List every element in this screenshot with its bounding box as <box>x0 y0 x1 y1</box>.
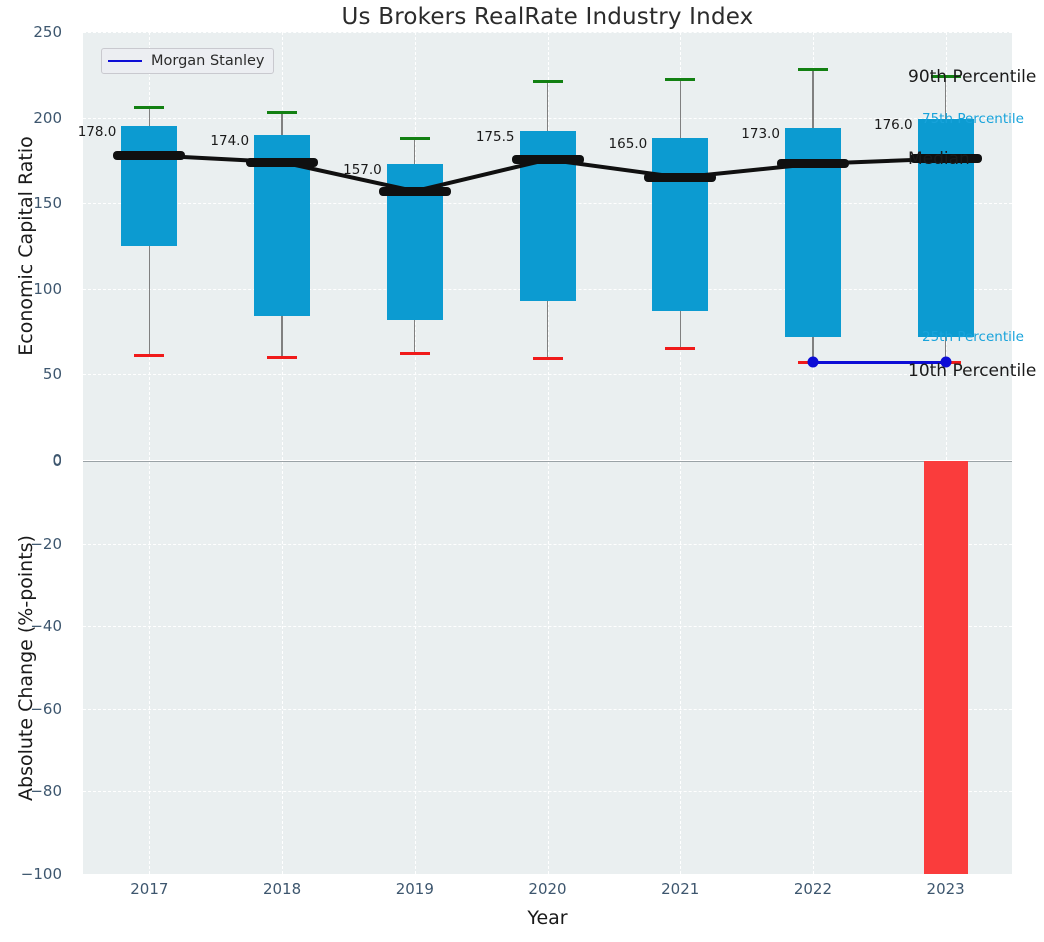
gridline-vertical <box>813 461 814 874</box>
y-tick-label: −100 <box>0 865 72 883</box>
x-tick-label-2021: 2021 <box>661 880 699 898</box>
median-value-label-2020: 175.5 <box>476 129 518 145</box>
y-tick-label: 150 <box>0 194 72 212</box>
gridline-vertical <box>282 461 283 874</box>
x-tick-label-2023: 2023 <box>927 880 965 898</box>
y-tick-label: −40 <box>0 617 72 635</box>
median-value-label-2023: 176.0 <box>874 117 916 133</box>
y-axis-label-bottom: Absolute Change (%-points) <box>15 535 37 801</box>
legend[interactable]: Morgan Stanley <box>101 48 274 74</box>
cap-p90-2019 <box>400 137 430 140</box>
legend-line-icon <box>108 60 142 63</box>
x-tick-label-2019: 2019 <box>396 880 434 898</box>
median-bar-2021 <box>644 173 716 182</box>
y-tick-label: −80 <box>0 782 72 800</box>
median-value-label-2022: 173.0 <box>741 126 783 142</box>
x-tick-label-2020: 2020 <box>528 880 566 898</box>
cap-p90-2018 <box>267 111 297 114</box>
gridline-vertical <box>149 461 150 874</box>
annotation-10th-percentile: 10th Percentile <box>908 361 1036 381</box>
median-bar-2018 <box>246 158 318 167</box>
cap-p10-2020 <box>533 357 563 360</box>
cap-p90-2017 <box>134 106 164 109</box>
cap-p10-2021 <box>665 347 695 350</box>
cap-p10-2018 <box>267 356 297 359</box>
x-tick-label-2017: 2017 <box>130 880 168 898</box>
change-bar-2023 <box>924 461 968 874</box>
gridline-vertical <box>680 461 681 874</box>
median-bar-2019 <box>379 187 451 196</box>
gridline-vertical <box>415 461 416 874</box>
chart-title: Us Brokers RealRate Industry Index <box>83 4 1012 30</box>
annotation-75th-percentile: 75th Percentile <box>922 111 1024 127</box>
x-tick-label-2022: 2022 <box>794 880 832 898</box>
gridline-vertical <box>548 461 549 874</box>
box-2017 <box>121 126 177 246</box>
morgan-stanley-point-2022 <box>807 357 818 368</box>
cap-p90-2020 <box>533 80 563 83</box>
cap-p10-2017 <box>134 354 164 357</box>
legend-label-morgan-stanley: Morgan Stanley <box>151 53 264 69</box>
median-bar-2022 <box>777 159 849 168</box>
cap-p90-2021 <box>665 78 695 81</box>
x-axis-label: Year <box>83 907 1012 929</box>
median-value-label-2019: 157.0 <box>343 162 385 178</box>
cap-p90-2022 <box>798 68 828 71</box>
y-tick-label: −20 <box>0 535 72 553</box>
y-tick-label: 50 <box>0 365 72 383</box>
median-value-label-2021: 165.0 <box>609 136 651 152</box>
box-2021 <box>652 138 708 311</box>
y-tick-label: 0 <box>0 452 72 470</box>
median-bar-2020 <box>512 155 584 164</box>
y-tick-label: −60 <box>0 700 72 718</box>
y-axis-label-top: Economic Capital Ratio <box>15 136 37 355</box>
y-tick-label: 200 <box>0 109 72 127</box>
zero-baseline <box>83 461 1012 462</box>
median-bar-2017 <box>113 151 185 160</box>
chart-figure: Us Brokers RealRate Industry Index Econo… <box>0 0 1044 942</box>
annotation-90th-percentile: 90th Percentile <box>908 67 1036 87</box>
annotation-median: Median <box>908 149 970 169</box>
y-tick-label: 100 <box>0 280 72 298</box>
median-value-label-2017: 178.0 <box>78 124 120 140</box>
y-tick-label: 250 <box>0 23 72 41</box>
cap-p10-2019 <box>400 352 430 355</box>
median-value-label-2018: 174.0 <box>210 133 252 149</box>
x-tick-label-2018: 2018 <box>263 880 301 898</box>
panel-absolute-change <box>83 461 1012 874</box>
annotation-25th-percentile: 25th Percentile <box>922 329 1024 345</box>
